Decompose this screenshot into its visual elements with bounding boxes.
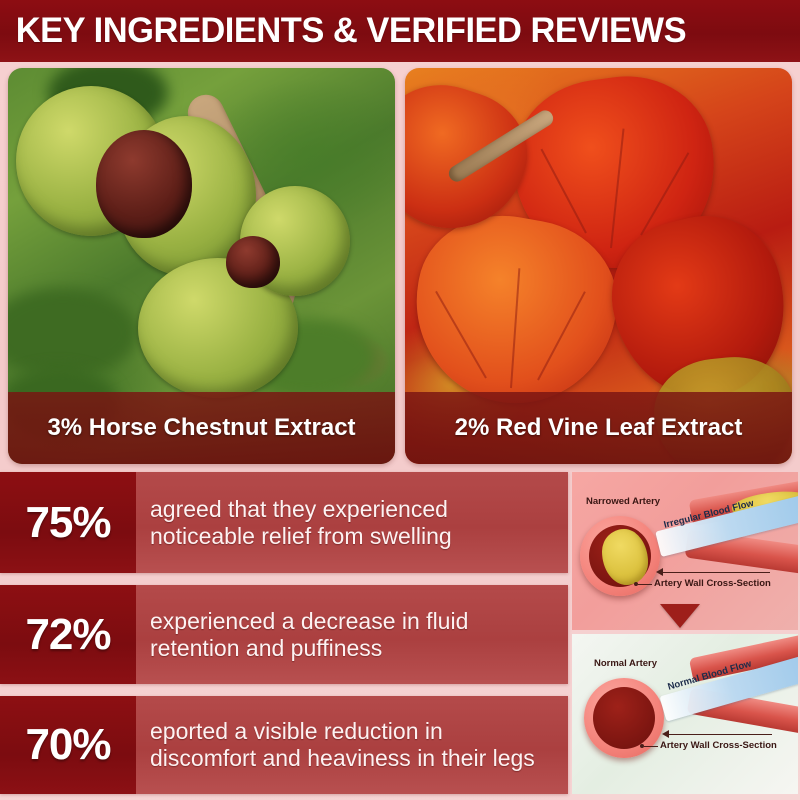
normal-artery-panel: Normal Artery Normal Blood Flow Artery W…: [572, 634, 798, 794]
stat-row[interactable]: 75% agreed that they experienced noticea…: [0, 472, 568, 573]
wall-lead-line: [644, 746, 658, 747]
stat-body: eported a visible reduction in discomfor…: [136, 696, 568, 794]
ingredient-caption-bar: 2% Red Vine Leaf Extract: [405, 392, 792, 464]
wall-lead-line: [668, 734, 772, 735]
stat-description: agreed that they experienced noticeable …: [150, 496, 554, 549]
artery-wall-cross-section-label: Artery Wall Cross-Section: [660, 740, 777, 751]
down-arrow-icon: [660, 604, 700, 628]
ingredient-caption-label: 2% Red Vine Leaf Extract: [447, 415, 751, 442]
stat-body: agreed that they experienced noticeable …: [136, 472, 568, 573]
stat-percent-badge: 72%: [0, 585, 136, 684]
stat-row[interactable]: 72% experienced a decrease in fluid rete…: [0, 585, 568, 684]
stat-percent-value: 70%: [25, 720, 110, 770]
narrowed-artery-label: Narrowed Artery: [586, 496, 660, 507]
wall-lead-line: [638, 584, 652, 585]
stat-percent-badge: 70%: [0, 696, 136, 794]
infographic-root: KEY INGREDIENTS & VERIFIED REVIEWS 3% Ho…: [0, 0, 800, 800]
lead-arrow-icon: [656, 568, 663, 576]
normal-artery-label: Normal Artery: [594, 658, 657, 669]
stat-percent-value: 75%: [25, 498, 110, 548]
page-title: KEY INGREDIENTS & VERIFIED REVIEWS: [0, 11, 686, 51]
header-banner: KEY INGREDIENTS & VERIFIED REVIEWS: [0, 0, 800, 62]
artery-wall-cross-section-label: Artery Wall Cross-Section: [654, 578, 771, 589]
ingredient-card-red-vine-leaf[interactable]: 2% Red Vine Leaf Extract: [405, 68, 792, 464]
ingredient-caption-label: 3% Horse Chestnut Extract: [39, 415, 363, 442]
wall-lead-line: [662, 572, 770, 573]
stat-row[interactable]: 70% eported a visible reduction in disco…: [0, 696, 568, 794]
ingredient-card-horse-chestnut[interactable]: 3% Horse Chestnut Extract: [8, 68, 395, 464]
lead-arrow-icon: [662, 730, 669, 738]
stats-list: 75% agreed that they experienced noticea…: [0, 472, 568, 794]
stat-body: experienced a decrease in fluid retentio…: [136, 585, 568, 684]
stat-description: eported a visible reduction in discomfor…: [150, 718, 554, 771]
narrowed-artery-panel: Narrowed Artery Irregular Blood Flow Art…: [572, 472, 798, 630]
stat-percent-value: 72%: [25, 610, 110, 660]
ingredient-caption-bar: 3% Horse Chestnut Extract: [8, 392, 395, 464]
stat-description: experienced a decrease in fluid retentio…: [150, 608, 554, 661]
stat-percent-badge: 75%: [0, 472, 136, 573]
ingredient-cards: 3% Horse Chestnut Extract 2% Red Vine Le…: [0, 68, 800, 464]
artery-diagram: Narrowed Artery Irregular Blood Flow Art…: [572, 472, 798, 794]
